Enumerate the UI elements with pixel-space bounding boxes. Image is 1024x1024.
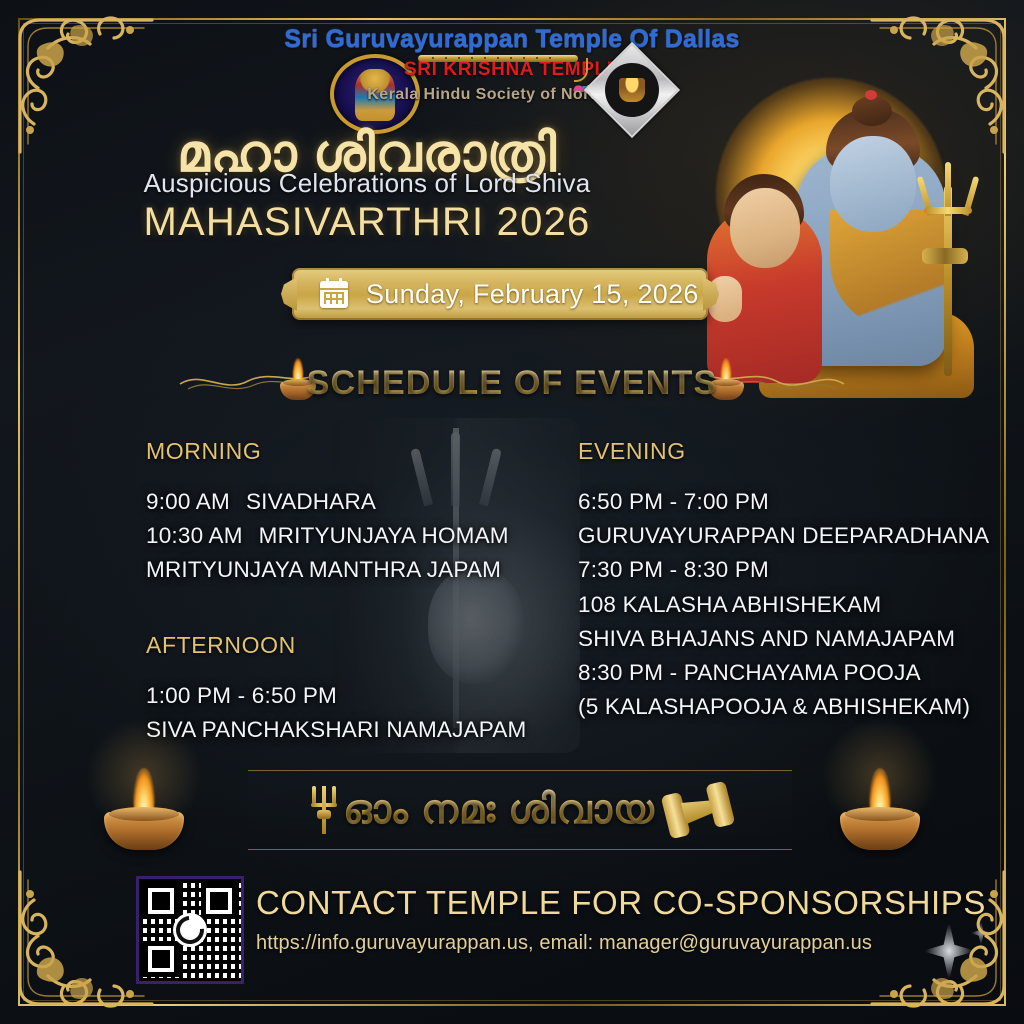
afternoon-label: AFTERNOON xyxy=(146,632,546,659)
evening-label: EVENING xyxy=(578,438,998,465)
mantra-text: ഓം നമഃ ശിവായ xyxy=(343,788,655,833)
sparkle-icon-small xyxy=(970,920,992,946)
shiva-parvati-illustration xyxy=(694,90,1004,390)
event-name: GURUVAYURAPPAN DEEPARADHANA xyxy=(578,523,989,548)
event-name: (5 KALASHAPOOJA & ABHISHEKAM) xyxy=(578,694,970,719)
event-name: MRITYUNJAYA HOMAM xyxy=(259,523,509,548)
list-item: (5 KALASHAPOOJA & ABHISHEKAM) xyxy=(578,690,998,724)
subtitle: Auspicious Celebrations of Lord Shiva xyxy=(0,168,734,199)
sparkle-icon xyxy=(922,920,976,982)
damaru-drum-icon xyxy=(660,781,735,840)
event-time: 9:00 AM xyxy=(146,489,230,514)
event-time: 7:30 PM - 8:30 PM xyxy=(578,557,769,582)
flute-icon xyxy=(418,55,578,62)
event-name: SHIVA BHAJANS AND NAMAJAPAM xyxy=(578,626,955,651)
list-item: 9:00 AMSIVADHARA xyxy=(146,485,546,519)
event-time: 6:50 PM - 7:00 PM xyxy=(578,489,769,514)
list-item: SIVA PANCHAKSHARI NAMAJAPAM xyxy=(146,713,546,747)
list-item: 1:00 PM - 6:50 PM xyxy=(146,679,546,713)
date-banner: Sunday, February 15, 2026 xyxy=(292,268,708,320)
list-item: 8:30 PM - PANCHAYAMA POOJA xyxy=(578,656,998,690)
contact-heading: CONTACT TEMPLE FOR CO-SPONSORSHIPS xyxy=(256,884,986,922)
schedule-column-right: EVENING 6:50 PM - 7:00 PM GURUVAYURAPPAN… xyxy=(578,438,998,724)
schedule-column-left: MORNING 9:00 AMSIVADHARA 10:30 AMMRITYUN… xyxy=(146,438,546,747)
list-item: 7:30 PM - 8:30 PM xyxy=(578,553,998,587)
event-name: 108 KALASHA ABHISHEKAM xyxy=(578,592,881,617)
temple-name: Sri Guruvayurappan Temple Of Dallas xyxy=(0,25,1024,54)
list-item: 6:50 PM - 7:00 PM xyxy=(578,485,998,519)
schedule-header: SCHEDULE OF EVENTS xyxy=(0,360,1024,420)
event-time: 1:00 PM - 6:50 PM xyxy=(146,683,337,708)
krishna-temple-label: SRI KRISHNA TEMPLE xyxy=(0,59,1024,81)
list-item: GURUVAYURAPPAN DEEPARADHANA xyxy=(578,519,998,553)
list-item: MRITYUNJAYA MANTHRA JAPAM xyxy=(146,553,546,587)
mantra-bar: ഓം നമഃ ശിവായ xyxy=(248,770,792,850)
event-date: Sunday, February 15, 2026 xyxy=(366,279,699,310)
list-item: 10:30 AMMRITYUNJAYA HOMAM xyxy=(146,519,546,553)
mahasivarthri-poster: Sri Guruvayurappan Temple Of Dallas SRI … xyxy=(0,0,1024,1024)
society-label: Kerala Hindu Society of North Texas xyxy=(0,86,1024,104)
event-name: MRITYUNJAYA MANTHRA JAPAM xyxy=(146,557,501,582)
logo-row: SRI KRISHNA TEMPLE Kerala Hindu Society … xyxy=(0,52,1024,124)
english-title: MAHASIVARTHRI 2026 xyxy=(0,200,734,245)
diya-lamp-bottom-right xyxy=(834,760,926,856)
diya-lamp-bottom-left xyxy=(98,760,190,856)
corner-ornament-bottom-left xyxy=(4,870,154,1020)
event-time: 10:30 AM xyxy=(146,523,243,548)
event-name: 8:30 PM - PANCHAYAMA POOJA xyxy=(578,660,921,685)
contact-links[interactable]: https://info.guruvayurappan.us, email: m… xyxy=(256,932,872,955)
event-name: SIVA PANCHAKSHARI NAMAJAPAM xyxy=(146,717,526,742)
trident-icon xyxy=(922,162,974,216)
schedule-title: SCHEDULE OF EVENTS xyxy=(0,364,1024,403)
list-item: 108 KALASHA ABHISHEKAM xyxy=(578,588,998,622)
calendar-icon xyxy=(320,281,348,308)
event-name: SIVADHARA xyxy=(246,489,376,514)
morning-label: MORNING xyxy=(146,438,546,465)
qr-code[interactable] xyxy=(136,876,244,984)
trident-icon-mantra xyxy=(309,786,339,834)
list-item: SHIVA BHAJANS AND NAMAJAPAM xyxy=(578,622,998,656)
